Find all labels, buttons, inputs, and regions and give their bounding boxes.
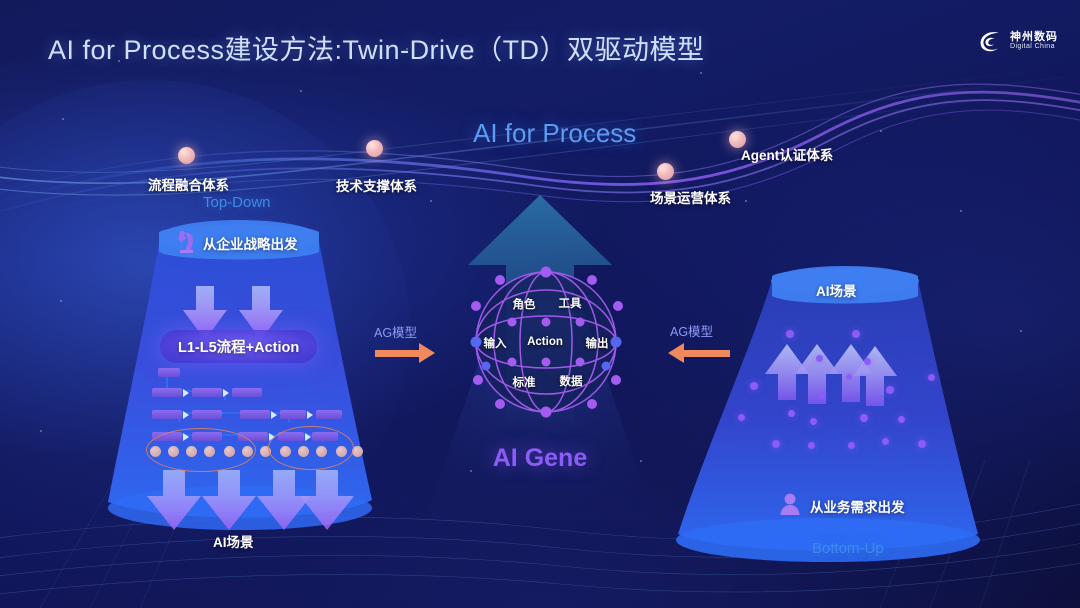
star [960,210,962,212]
ai-gene-title: AI Gene [0,444,1080,473]
star [300,90,302,92]
l1-l5-pill: L1-L5流程+Action [160,330,317,363]
particle-dot [918,440,926,448]
particle-dot [818,392,825,399]
person-icon [779,492,801,521]
right-funnel-cap-text: AI场景 [816,280,857,300]
node-label-agent-cert: Agent认证体系 [741,144,833,164]
page-title: AI for Process建设方法:Twin-Drive（TD）双驱动模型 [48,28,705,67]
slide-root: AI for Process建设方法:Twin-Drive（TD）双驱动模型 神… [0,0,1080,608]
star [700,72,702,74]
particle-dot [860,414,868,422]
particle-dot [898,416,905,423]
node-label-tech-support: 技术支撑体系 [336,175,417,195]
particle-dot [928,374,935,381]
background-waves [0,0,1080,608]
star [745,200,747,202]
ag-model-label-right: AG模型 [670,321,713,340]
chess-knight-icon [174,226,196,259]
node-dot-2 [366,140,383,157]
star [430,200,432,202]
digital-china-logo-icon [977,28,1003,54]
center-headline: AI for Process [473,118,636,149]
sphere-cell-input: 输入 [484,335,507,351]
logo-text-cn: 神州数码 [1010,32,1058,44]
particle-dot [848,442,855,449]
node-label-process-integration: 流程融合体系 [148,174,229,194]
star [62,118,64,120]
particle-dot [786,330,794,338]
left-funnel-cap-text: 从企业战略出发 [203,233,298,253]
node-dot-3 [657,163,674,180]
label-bottom-up: Bottom-Up [812,540,884,557]
logo-text-en: Digital China [1010,43,1058,50]
particle-dot [816,355,823,362]
sphere-cell-output: 输出 [586,335,609,351]
star [60,300,62,302]
sphere-cell-action: Action [527,336,563,348]
star [40,430,42,432]
sphere-cell-standard: 标准 [513,374,536,390]
sphere-cell-tool: 工具 [559,295,582,311]
particle-dot [772,440,780,448]
particle-dot [810,418,817,425]
star [1020,330,1022,332]
particle-dot [808,442,815,449]
particle-dot [886,386,894,394]
brand-logo: 神州数码 Digital China [977,28,1058,54]
sphere-cell-role: 角色 [513,296,536,312]
node-dot-1 [178,147,195,164]
ag-model-label-left: AG模型 [374,322,417,341]
particle-dot [882,438,889,445]
label-top-down: Top-Down [203,194,271,211]
left-funnel-scene-label: AI场景 [213,531,254,551]
right-funnel-bottom-text: 从业务需求出发 [810,496,905,516]
particle-dot [852,330,860,338]
node-label-scenario-ops: 场景运营体系 [650,187,731,207]
particle-dot [750,382,758,390]
particle-dot [738,414,745,421]
particle-dot [846,374,852,380]
sphere-cell-data: 数据 [560,373,583,389]
particle-dot [864,358,871,365]
particle-dot [788,410,795,417]
star [880,130,882,132]
